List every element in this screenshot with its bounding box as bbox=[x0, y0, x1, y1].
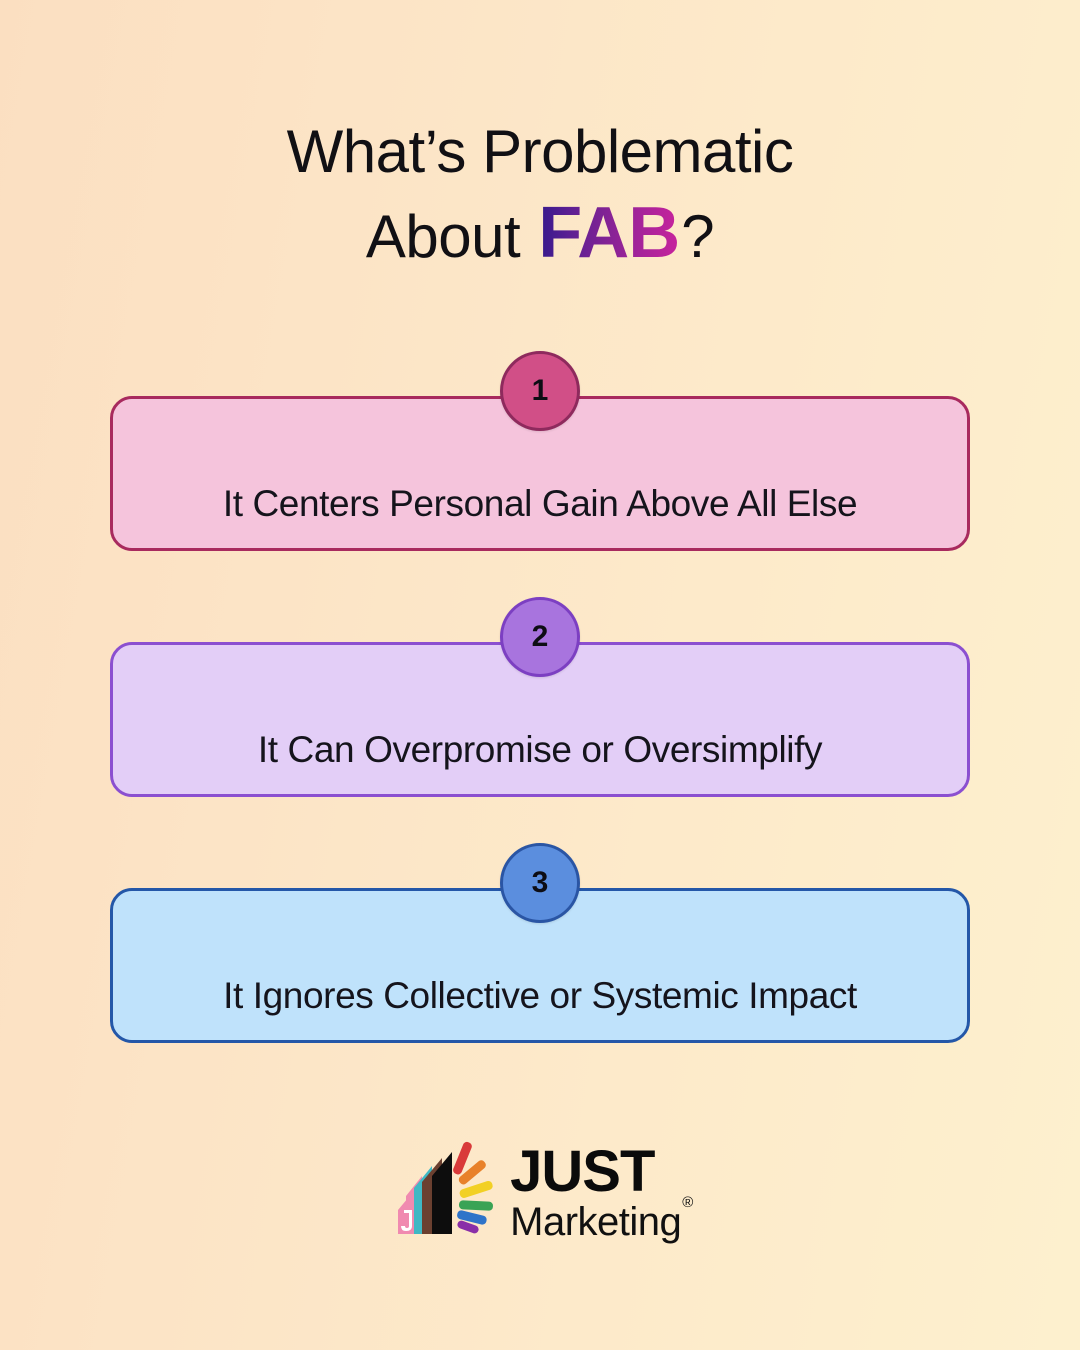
logo-brand-secondary: Marketing® bbox=[510, 1202, 692, 1242]
card-number-badge-1: 1 bbox=[500, 351, 580, 431]
card-body-2[interactable]: 2 It Can Overpromise or Oversimplify bbox=[110, 642, 970, 797]
card-label-2: It Can Overpromise or Oversimplify bbox=[258, 731, 822, 768]
brand-logo: JUST Marketing® bbox=[0, 1136, 1080, 1251]
card-body-1[interactable]: 1 It Centers Personal Gain Above All Els… bbox=[110, 396, 970, 551]
card-number-badge-3: 3 bbox=[500, 843, 580, 923]
logo-brand-primary: JUST bbox=[510, 1145, 692, 1198]
logo-brand-secondary-text: Marketing bbox=[510, 1200, 681, 1244]
card-label-3: It Ignores Collective or Systemic Impact bbox=[223, 977, 857, 1014]
card-item-3[interactable]: 3 It Ignores Collective or Systemic Impa… bbox=[110, 888, 970, 1043]
card-item-1[interactable]: 1 It Centers Personal Gain Above All Els… bbox=[110, 396, 970, 551]
logo-wordmark: JUST Marketing® bbox=[510, 1145, 692, 1242]
card-item-2[interactable]: 2 It Can Overpromise or Oversimplify bbox=[110, 642, 970, 797]
card-label-1: It Centers Personal Gain Above All Else bbox=[223, 485, 857, 522]
card-number-badge-2: 2 bbox=[500, 597, 580, 677]
card-body-3[interactable]: 3 It Ignores Collective or Systemic Impa… bbox=[110, 888, 970, 1043]
megaphone-icon bbox=[388, 1136, 500, 1251]
registered-trademark-icon: ® bbox=[682, 1194, 693, 1211]
